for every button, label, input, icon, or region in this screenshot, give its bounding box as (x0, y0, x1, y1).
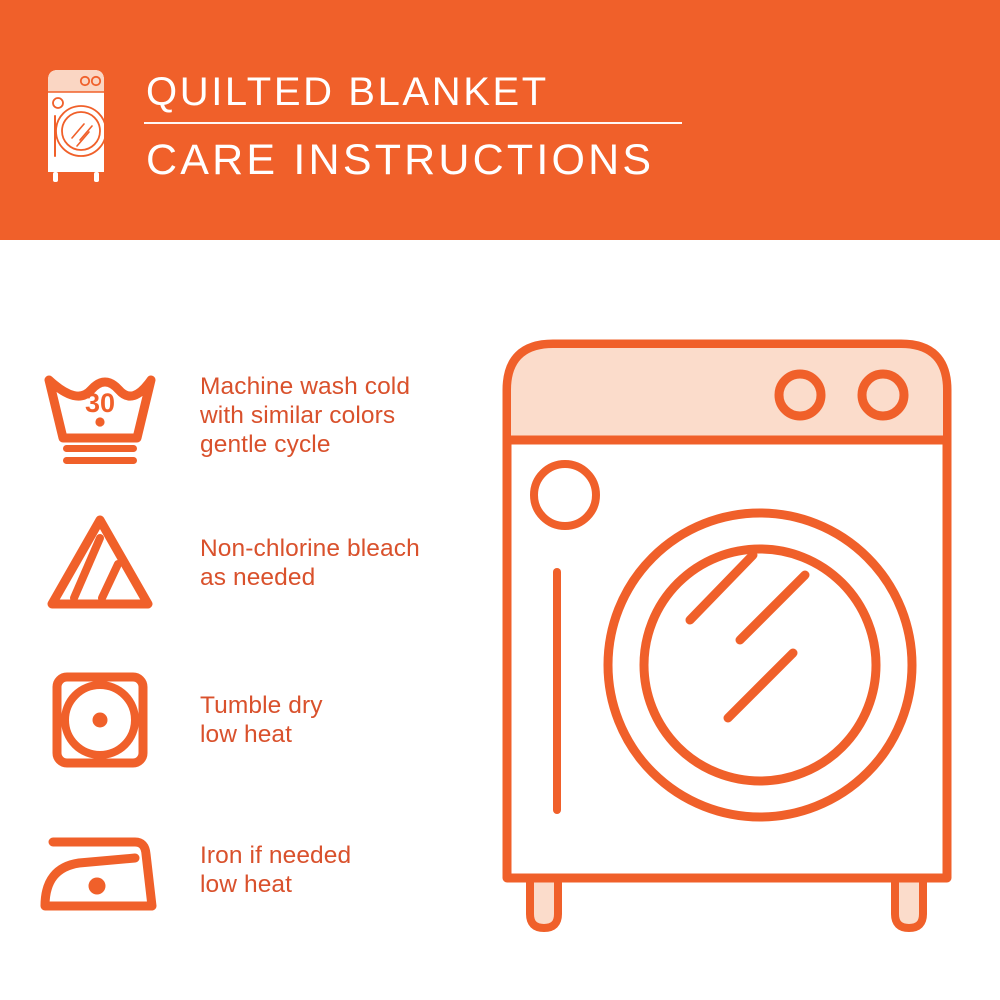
header-title-group: QUILTED BLANKET CARE INSTRUCTIONS (144, 70, 704, 186)
list-item: 30 Machine wash cold with similar colors… (0, 350, 500, 480)
instruction-list: 30 Machine wash cold with similar colors… (0, 240, 500, 1000)
bleach-triangle-icon (0, 498, 200, 628)
care-instructions-infographic: QUILTED BLANKET CARE INSTRUCTIONS 30 Mac… (0, 0, 1000, 1000)
control-panel (511, 348, 943, 440)
iron-icon (0, 805, 200, 935)
list-item-label: Iron if needed low heat (200, 841, 351, 899)
washing-machine-illustration (495, 330, 965, 940)
list-item: Non-chlorine bleach as needed (0, 498, 500, 628)
list-item-label: Tumble dry low heat (200, 691, 323, 749)
header-banner: QUILTED BLANKET CARE INSTRUCTIONS (0, 0, 1000, 240)
list-item: Tumble dry low heat (0, 655, 500, 785)
wash-tub-icon: 30 (0, 350, 200, 480)
page-title: QUILTED BLANKET (144, 70, 704, 114)
tumble-dry-icon (0, 655, 200, 785)
washing-machine-icon (44, 64, 108, 184)
list-item-label: Machine wash cold with similar colors ge… (200, 372, 410, 459)
title-divider (144, 122, 682, 124)
wash-temperature-label: 30 (85, 388, 115, 418)
list-item-label: Non-chlorine bleach as needed (200, 534, 420, 592)
page-subtitle: CARE INSTRUCTIONS (144, 134, 704, 186)
list-item: Iron if needed low heat (0, 805, 500, 935)
